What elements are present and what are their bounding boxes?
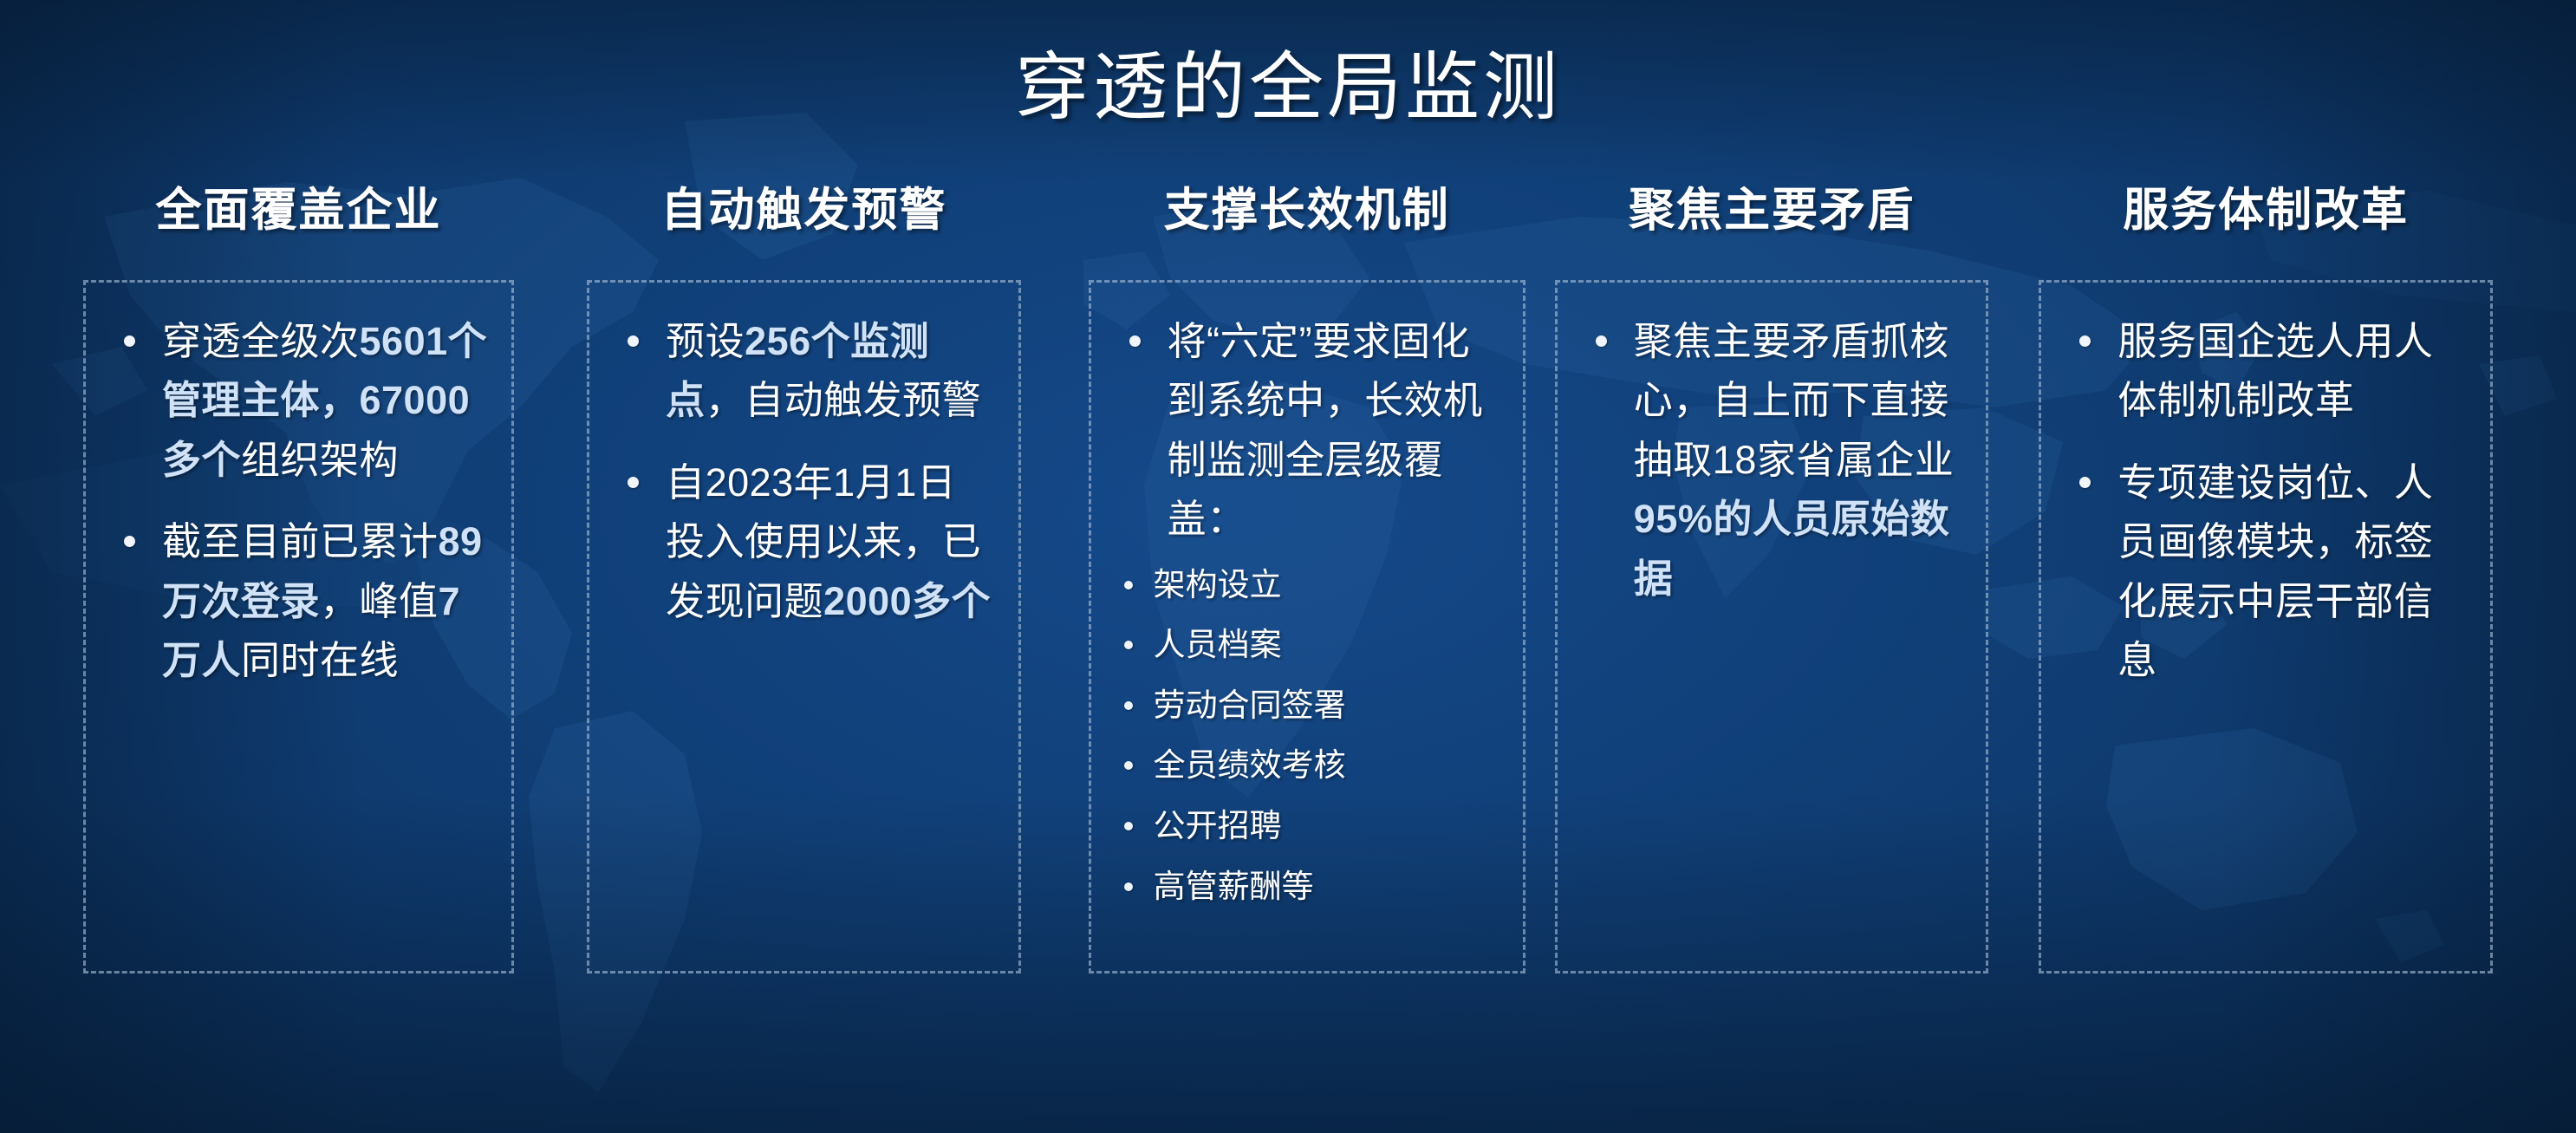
body-text: 截至目前已累计	[162, 519, 439, 563]
column-full-coverage: 全面覆盖企业 穿透全级次5601个管理主体，67000多个组织架构 截至目前已累…	[83, 173, 514, 973]
column-long-term-mechanism: 支撑长效机制 将“六定”要求固化到系统中，长效机制监测全层级覆盖： 架构设立 人…	[1089, 173, 1525, 973]
column-content-box: 服务国企选人用人体制机制改革 专项建设岗位、人员画像模块，标签化展示中层干部信息	[2039, 280, 2493, 973]
highlight-text: 95%的人员原始数据	[1634, 497, 1950, 600]
body-text: ，自动触发预警	[706, 378, 982, 422]
list-item: 截至目前已累计89万次登录，峰值7万人同时在线	[108, 512, 489, 690]
body-text: 聚焦主要矛盾抓核心，自上而下直接抽取18家省属企业	[1634, 319, 1955, 482]
body-text: ，峰值	[320, 579, 439, 623]
column-main-contradiction: 聚焦主要矛盾 聚焦主要矛盾抓核心，自上而下直接抽取18家省属企业95%的人员原始…	[1555, 173, 1989, 973]
slide-content: 穿透的全局监测 全面覆盖企业 穿透全级次5601个管理主体，67000多个组织架…	[0, 0, 2576, 1133]
highlight-text: 2000多个	[823, 579, 991, 623]
body-text: 同时在线	[241, 638, 399, 682]
column-auto-alert: 自动触发预警 预设256个监测点，自动触发预警 自2023年1月1日投入使用以来…	[587, 173, 1021, 973]
list-item: 高管薪酬等	[1114, 863, 1500, 910]
column-heading: 服务体制改革	[2123, 173, 2409, 239]
column-heading: 全面覆盖企业	[156, 173, 442, 239]
list-item: 将“六定”要求固化到系统中，长效机制监测全层级覆盖：	[1114, 312, 1500, 550]
list-item: 自2023年1月1日投入使用以来，已发现问题2000多个	[612, 453, 996, 631]
list-item: 服务国企选人用人体制机制改革	[2064, 312, 2468, 431]
body-text: 专项建设岗位、人员画像模块，标签化展示中层干部信息	[2117, 460, 2433, 682]
sub-bullet-list: 架构设立 人员档案 劳动合同签署 全员绩效考核 公开招聘 高管薪酬等	[1114, 562, 1500, 910]
bullet-list: 穿透全级次5601个管理主体，67000多个组织架构 截至目前已累计89万次登录…	[108, 312, 489, 690]
bullet-list: 服务国企选人用人体制机制改革 专项建设岗位、人员画像模块，标签化展示中层干部信息	[2064, 312, 2468, 690]
column-heading: 支撑长效机制	[1164, 173, 1450, 239]
page-title: 穿透的全局监测	[0, 26, 2576, 134]
column-service-reform: 服务体制改革 服务国企选人用人体制机制改革 专项建设岗位、人员画像模块，标签化展…	[2039, 173, 2493, 973]
bullet-list: 聚焦主要矛盾抓核心，自上而下直接抽取18家省属企业95%的人员原始数据	[1580, 312, 1964, 609]
list-item: 劳动合同签署	[1114, 682, 1500, 729]
body-text: 组织架构	[241, 438, 399, 482]
list-item: 专项建设岗位、人员画像模块，标签化展示中层干部信息	[2064, 453, 2468, 691]
column-content-box: 聚焦主要矛盾抓核心，自上而下直接抽取18家省属企业95%的人员原始数据	[1555, 280, 1989, 973]
body-text: 将“六定”要求固化到系统中，长效机制监测全层级覆盖：	[1168, 319, 1483, 541]
body-text: 预设	[666, 319, 745, 363]
list-item: 人员档案	[1114, 622, 1500, 668]
bullet-list: 将“六定”要求固化到系统中，长效机制监测全层级覆盖：	[1114, 312, 1500, 550]
list-item: 聚焦主要矛盾抓核心，自上而下直接抽取18家省属企业95%的人员原始数据	[1580, 312, 1964, 609]
column-content-box: 将“六定”要求固化到系统中，长效机制监测全层级覆盖： 架构设立 人员档案 劳动合…	[1089, 280, 1525, 973]
list-item: 预设256个监测点，自动触发预警	[612, 312, 996, 431]
body-text: 穿透全级次	[162, 319, 360, 363]
column-content-box: 预设256个监测点，自动触发预警 自2023年1月1日投入使用以来，已发现问题2…	[587, 280, 1021, 973]
list-item: 穿透全级次5601个管理主体，67000多个组织架构	[108, 312, 489, 490]
list-item: 架构设立	[1114, 562, 1500, 609]
columns-container: 全面覆盖企业 穿透全级次5601个管理主体，67000多个组织架构 截至目前已累…	[0, 173, 2576, 1040]
list-item: 全员绩效考核	[1114, 742, 1500, 789]
column-content-box: 穿透全级次5601个管理主体，67000多个组织架构 截至目前已累计89万次登录…	[83, 280, 514, 973]
body-text: 服务国企选人用人体制机制改革	[2117, 319, 2433, 422]
slide-root: 穿透的全局监测 全面覆盖企业 穿透全级次5601个管理主体，67000多个组织架…	[0, 0, 2576, 1133]
list-item: 公开招聘	[1114, 803, 1500, 850]
column-heading: 聚焦主要矛盾	[1629, 173, 1915, 239]
bullet-list: 预设256个监测点，自动触发预警 自2023年1月1日投入使用以来，已发现问题2…	[612, 312, 996, 631]
column-heading: 自动触发预警	[660, 173, 946, 239]
